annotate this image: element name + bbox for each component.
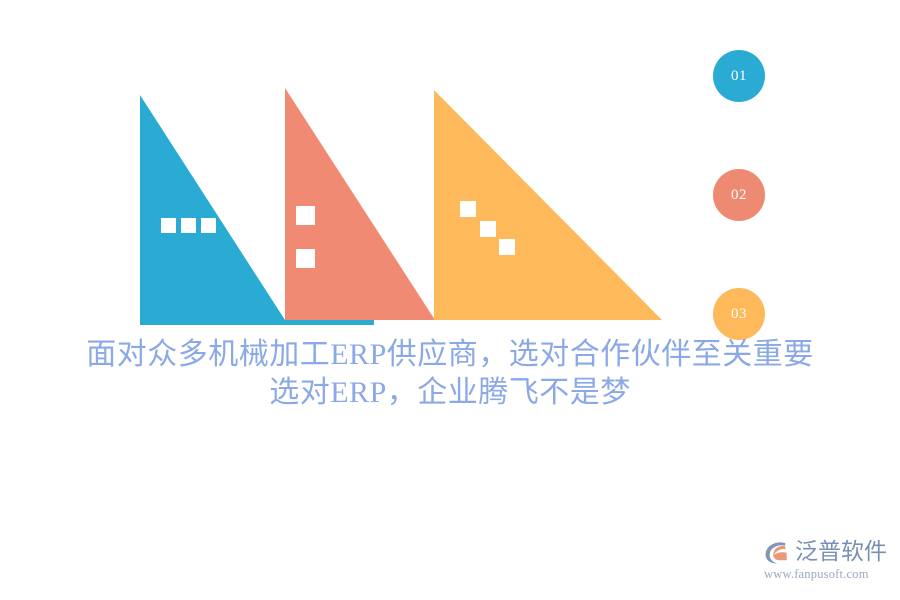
marker-label: 03: [731, 306, 747, 323]
window-square: [460, 201, 476, 217]
slide-canvas: 01 02 03 面对众多机械加工ERP供应商，选对合作伙伴至关重要 选对ERP…: [0, 0, 900, 600]
logo-row: 泛普软件: [762, 536, 887, 568]
window-square: [181, 218, 196, 233]
logo-wordmark: 泛普软件: [795, 537, 887, 567]
headline-line-2: 选对ERP，企业腾飞不是梦: [0, 374, 900, 412]
window-square: [480, 221, 496, 237]
triangle-salmon: [285, 88, 435, 320]
headline: 面对众多机械加工ERP供应商，选对合作伙伴至关重要 选对ERP，企业腾飞不是梦: [0, 336, 900, 412]
triangle-group: [0, 0, 900, 340]
baseline-bar: [140, 320, 374, 325]
window-square: [296, 249, 315, 268]
fanpu-logo-icon: [762, 537, 792, 567]
window-square: [161, 218, 176, 233]
triangles-svg: [0, 0, 900, 340]
window-square: [499, 239, 515, 255]
marker-circle-02[interactable]: 02: [713, 169, 765, 221]
headline-line-1: 面对众多机械加工ERP供应商，选对合作伙伴至关重要: [0, 336, 900, 374]
marker-circle-03[interactable]: 03: [713, 288, 765, 340]
infographic-graphic: 01 02 03: [0, 0, 900, 340]
marker-circle-01[interactable]: 01: [713, 50, 765, 102]
logo-url: www.fanpusoft.com: [764, 567, 869, 582]
brand-logo[interactable]: 泛普软件 www.fanpusoft.com: [762, 536, 894, 586]
triangle-blue: [140, 95, 285, 320]
marker-label: 02: [731, 187, 747, 204]
marker-label: 01: [731, 68, 747, 85]
window-square: [296, 206, 315, 225]
window-square: [201, 218, 216, 233]
